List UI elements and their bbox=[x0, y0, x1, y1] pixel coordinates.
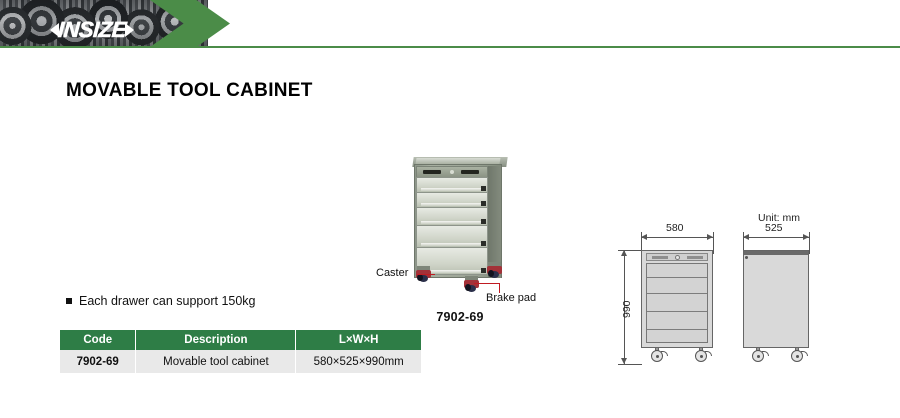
front-view-handle-slot-left-icon bbox=[652, 256, 668, 259]
callout-label-caster: Caster bbox=[376, 267, 408, 279]
caster-arm bbox=[762, 351, 769, 356]
specification-table: Code Description L×W×H 7902-69 Movable t… bbox=[60, 330, 421, 373]
drawer-knob bbox=[481, 241, 486, 246]
handle-slot-right-icon bbox=[461, 170, 479, 174]
drawer-3 bbox=[416, 207, 488, 226]
front-view-caster-left bbox=[650, 347, 664, 363]
front-view-caster-right bbox=[694, 347, 708, 363]
side-view-top-cap bbox=[744, 251, 808, 255]
dim-line-depth-525 bbox=[743, 237, 809, 238]
side-view-fixing-dot bbox=[745, 256, 748, 259]
front-view-drawer-separator bbox=[647, 311, 707, 312]
feature-text: Each drawer can support 150kg bbox=[79, 294, 256, 308]
column-header-code: Code bbox=[60, 330, 136, 350]
front-view-drawer-area bbox=[646, 263, 708, 343]
front-view-handle-slot-right-icon bbox=[687, 256, 703, 259]
dim-arrow-left-580 bbox=[641, 234, 647, 240]
front-view-drawer-separator bbox=[647, 277, 707, 278]
caster-rear-right bbox=[487, 262, 502, 278]
side-view-cabinet bbox=[743, 250, 809, 348]
side-view-caster-left bbox=[751, 347, 765, 363]
technical-drawing: Unit: mm 580 990 52 bbox=[610, 200, 840, 380]
page-title: MOVABLE TOOL CABINET bbox=[66, 80, 313, 102]
drawer-2 bbox=[416, 192, 488, 208]
callout-leader-brake-pad-vertical bbox=[499, 283, 500, 293]
drawer-knob bbox=[481, 201, 486, 206]
cabinet-drawer-stack bbox=[416, 166, 486, 274]
dim-arrow-up-990 bbox=[621, 250, 627, 256]
callout-leader-caster bbox=[417, 274, 435, 275]
drawer-4 bbox=[416, 225, 488, 248]
caster-arm bbox=[801, 351, 808, 356]
drawer-knob bbox=[481, 268, 486, 273]
front-view-cabinet bbox=[641, 250, 713, 348]
dim-arrow-left-525 bbox=[743, 234, 749, 240]
dim-line-width-580 bbox=[641, 237, 713, 238]
caster-wheel-inner bbox=[465, 284, 471, 291]
drawer-1 bbox=[416, 177, 488, 193]
drawer-handle bbox=[421, 188, 483, 191]
caster-wheel-inner bbox=[488, 270, 494, 277]
column-header-dimensions: L×W×H bbox=[296, 330, 421, 350]
drawer-knob bbox=[481, 219, 486, 224]
caster-hub bbox=[796, 355, 799, 358]
dim-arrow-right-580 bbox=[707, 234, 713, 240]
product-part-number: 7902-69 bbox=[370, 310, 550, 324]
dim-value-width-580: 580 bbox=[666, 222, 684, 234]
caster-arm bbox=[661, 351, 668, 356]
drawer-handle bbox=[421, 221, 483, 224]
page-header-banner: INSIZE bbox=[0, 0, 900, 47]
callout-label-brake-pad: Brake pad bbox=[486, 292, 536, 304]
caster-arm bbox=[705, 351, 712, 356]
caster-hub bbox=[757, 355, 760, 358]
lock-icon bbox=[450, 170, 454, 174]
dim-arrow-right-525 bbox=[803, 234, 809, 240]
dim-arrow-down-990 bbox=[621, 358, 627, 364]
table-row: 7902-69 Movable tool cabinet 580×525×990… bbox=[60, 350, 421, 373]
logo-wordmark: INSIZE bbox=[57, 19, 126, 41]
dim-ext-line-front-right bbox=[713, 232, 714, 254]
insize-logo: INSIZE bbox=[50, 18, 134, 41]
header-green-rule bbox=[0, 46, 900, 48]
cell-description: Movable tool cabinet bbox=[136, 350, 296, 373]
table-header-row: Code Description L×W×H bbox=[60, 330, 421, 350]
dim-value-height-990: 990 bbox=[621, 300, 633, 318]
front-view-drawer-separator bbox=[647, 329, 707, 330]
drawer-knob bbox=[481, 186, 486, 191]
side-view-caster-right bbox=[790, 347, 804, 363]
caster-hub bbox=[656, 355, 659, 358]
cell-dimensions: 580×525×990mm bbox=[296, 350, 421, 373]
square-bullet-icon bbox=[66, 298, 72, 304]
caster-hub bbox=[700, 355, 703, 358]
front-view-lock-panel bbox=[646, 253, 708, 261]
dim-value-depth-525: 525 bbox=[765, 222, 783, 234]
cell-code: 7902-69 bbox=[60, 350, 136, 373]
callout-leader-brake-pad-horizontal bbox=[474, 283, 500, 284]
front-view-drawer-separator bbox=[647, 293, 707, 294]
drawer-handle bbox=[421, 243, 483, 246]
product-photo: Caster Brake pad 7902-69 bbox=[370, 150, 550, 330]
handle-slot-left-icon bbox=[423, 170, 441, 174]
dim-ext-line-side-right bbox=[809, 232, 810, 254]
drawer-handle bbox=[421, 203, 483, 206]
feature-list-item: Each drawer can support 150kg bbox=[66, 294, 256, 308]
dim-ext-line-bottom-990 bbox=[618, 364, 642, 365]
column-header-description: Description bbox=[136, 330, 296, 350]
front-view-lock-icon bbox=[675, 255, 680, 260]
